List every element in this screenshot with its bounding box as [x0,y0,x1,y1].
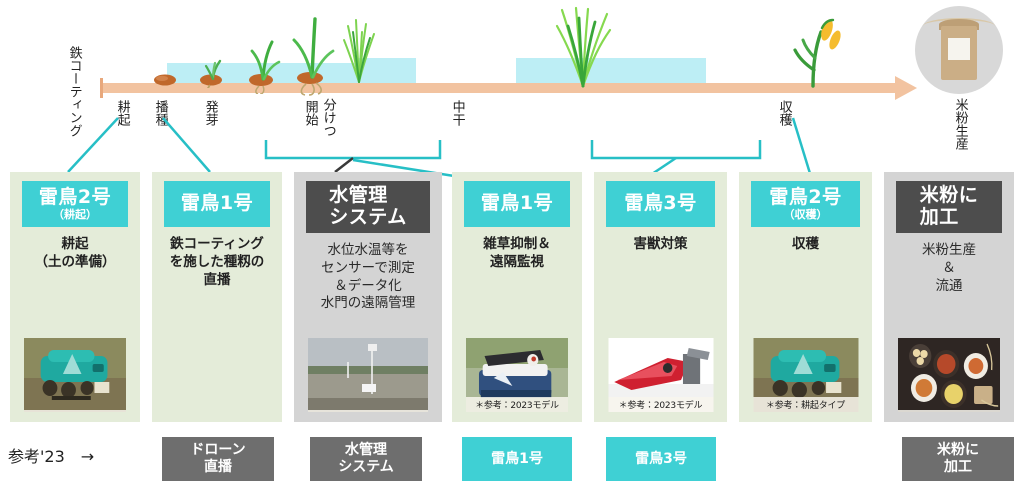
paddy-weeding-robot-photo: ＊参考：2023モデル [466,338,568,412]
timeline-connectors [0,0,1024,180]
card-chip-raicho-2-tillage: 雷鳥2号 （耕起） [22,181,128,227]
card-raicho-1-weeding[interactable]: 雷鳥1号 雑草抑制＆遠隔監視 ＊参考：2023モデル [452,172,582,422]
photo-caption [24,410,126,412]
chip-title: 水管理システム [329,185,406,228]
stage-card-row: 雷鳥2号 （耕起） 耕起（土の準備） [0,172,1024,430]
card-chip-rice-flour-processing: 米粉に加工 [896,181,1002,233]
photo-caption: ＊参考：2023モデル [466,397,568,412]
card-chip-raicho-3-pest: 雷鳥3号 [606,181,715,227]
card-description: 米粉生産＆流通 [892,242,1006,295]
card-chip-water-management-system: 水管理システム [306,181,430,233]
reference-note: 参考'23 → [8,443,94,467]
chip-title: 雷鳥3号 [624,193,696,214]
card-description: 耕起（土の準備） [18,236,132,272]
chip-title: 雷鳥2号 [769,187,841,208]
photo-caption [308,410,428,412]
teal-field-robot-photo [24,338,126,412]
card-raicho-3-pest[interactable]: 雷鳥3号 害獣対策 ＊参考：2023モデル [594,172,727,422]
chip-subtitle: （収穫） [784,209,828,221]
card-chip-raicho-1-weeding: 雷鳥1号 [464,181,570,227]
chip-title: 米粉に加工 [920,185,979,228]
photo-caption [898,410,1000,412]
bottom-label-drone-direct-sowing[interactable]: ドローン直播 [162,437,274,481]
red-drone-photo: ＊参考：2023モデル [608,338,713,412]
rice-flour-dishes-photo [898,338,1000,412]
photo-caption: ＊参考：耕起タイプ [753,397,858,412]
bottom-label-raicho-1[interactable]: 雷鳥1号 [462,437,572,481]
growth-timeline: 鉄コーティング 耕起 播種 発芽 分けつ 開始 中干 収穫 米粉生産 [0,0,1024,175]
card-chip-raicho-2-harvest: 雷鳥2号 （収穫） [751,181,860,227]
chip-title: 雷鳥1号 [481,193,553,214]
photo-caption: ＊参考：2023モデル [608,397,713,412]
card-description: 水位水温等をセンサーで測定＆データ化水門の遠隔管理 [302,242,434,313]
card-description: 収穫 [747,236,864,254]
flooded-paddy-sensor-photo [308,338,428,412]
card-raicho-2-tillage[interactable]: 雷鳥2号 （耕起） 耕起（土の準備） [10,172,140,422]
chip-subtitle: （耕起） [53,209,97,221]
card-chip-raicho-1-sowing: 雷鳥1号 [164,181,270,227]
card-description: 鉄コーティングを施した種籾の直播 [160,236,274,289]
chip-title: 雷鳥2号 [39,187,111,208]
infographic-root: 鉄コーティング 耕起 播種 発芽 分けつ 開始 中干 収穫 米粉生産 [0,0,1024,485]
card-description: 雑草抑制＆遠隔監視 [460,236,574,272]
card-water-management-system[interactable]: 水管理システム 水位水温等をセンサーで測定＆データ化水門の遠隔管理 [294,172,442,422]
teal-harvest-robot-photo: ＊参考：耕起タイプ [753,338,858,412]
bottom-label-rice-flour-processing[interactable]: 米粉に加工 [902,437,1014,481]
card-raicho-2-harvest[interactable]: 雷鳥2号 （収穫） 収穫 ＊参考：耕起タイプ [739,172,872,422]
card-raicho-1-sowing[interactable]: 雷鳥1号 鉄コーティングを施した種籾の直播 [152,172,282,422]
bottom-label-water-management-system[interactable]: 水管理システム [310,437,422,481]
card-description: 害獣対策 [602,236,719,254]
card-rice-flour-processing[interactable]: 米粉に加工 米粉生産＆流通 [884,172,1014,422]
chip-title: 雷鳥1号 [181,193,253,214]
reference-label-row: 参考'23 → ドローン直播 水管理システム 雷鳥1号 雷鳥3号 米粉に加工 [0,437,1024,485]
bottom-label-raicho-3[interactable]: 雷鳥3号 [606,437,716,481]
